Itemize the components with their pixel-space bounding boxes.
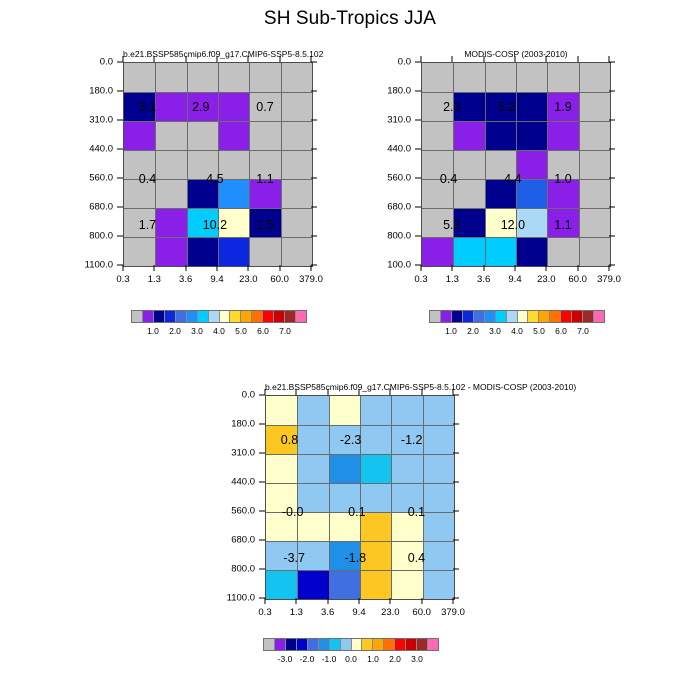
colorbar-segment <box>187 311 198 322</box>
y-axis-tick-right <box>453 540 459 541</box>
x-axis-label: 9.4 <box>508 274 521 285</box>
panel-diff-plot-area: 0.8-2.3-1.2-0.00.10.1-3.7-1.80.4 <box>265 395 455 600</box>
y-axis-tick <box>415 207 421 208</box>
y-axis-label: 800.0 <box>67 231 113 242</box>
panel-model-plot-area: 3.12.90.70.44.51.11.710.21.5 <box>123 62 313 267</box>
x-axis-tick-top <box>248 56 249 62</box>
x-axis-tick <box>123 265 124 271</box>
colorbar-segment <box>330 639 341 650</box>
panel-obs-plot-area: 2.35.21.90.44.41.05.312.01.1 <box>421 62 611 267</box>
y-axis-tick-right <box>453 598 459 599</box>
y-axis-tick <box>117 149 123 150</box>
y-axis-label: 800.0 <box>365 231 411 242</box>
x-axis-label: 3.6 <box>477 274 490 285</box>
y-axis-tick-right <box>453 424 459 425</box>
colorbar-tick-label: 7.0 <box>577 326 589 336</box>
x-axis-tick-top <box>609 56 610 62</box>
x-axis-label: 0.3 <box>258 607 271 618</box>
gridline-vertical <box>453 63 454 266</box>
heatmap-cell <box>329 396 360 425</box>
x-axis-tick <box>359 598 360 604</box>
x-axis-tick-top <box>483 56 484 62</box>
cell-value-label: -1.2 <box>401 433 423 447</box>
gridline-horizontal <box>124 121 312 122</box>
x-axis-tick-top <box>123 56 124 62</box>
colorbar-segment <box>209 311 220 322</box>
cell-value-label: 1.5 <box>256 218 273 232</box>
heatmap-cell <box>423 454 454 483</box>
cell-value-label: 4.4 <box>504 172 521 186</box>
heatmap-cell <box>155 237 186 266</box>
colorbar-segment <box>275 639 286 650</box>
colorbar-tick-label: 1.0 <box>147 326 159 336</box>
heatmap-cell <box>391 396 422 425</box>
gridline-horizontal <box>266 483 454 484</box>
gridline-horizontal <box>266 454 454 455</box>
gridline-horizontal <box>266 541 454 542</box>
heatmap-cell <box>329 454 360 483</box>
gridline-vertical <box>547 63 548 266</box>
x-axis-label: 379.0 <box>299 274 323 285</box>
colorbar-tick-label: 3.0 <box>191 326 203 336</box>
figure-root: SH Sub-Tropics JJA b.e21.BSSP585cmip6.f0… <box>0 0 700 700</box>
colorbar-segment <box>285 311 296 322</box>
y-axis-tick-right <box>609 91 615 92</box>
cell-value-label: 0.4 <box>440 172 457 186</box>
cell-value-label: 1.7 <box>139 218 156 232</box>
y-axis-tick <box>259 453 265 454</box>
y-axis-tick <box>259 424 265 425</box>
colorbar-tick-label: 3.0 <box>411 654 423 664</box>
gridline-horizontal <box>422 208 610 209</box>
y-axis-tick-right <box>311 62 317 63</box>
gridline-vertical <box>155 63 156 266</box>
y-axis-tick-right <box>609 265 615 266</box>
panel-model-title: b.e21.BSSP585cmip6.f09_g17.CMIP6-SSP5-8.… <box>123 49 313 59</box>
heatmap-cell <box>360 570 391 599</box>
y-axis-tick <box>259 482 265 483</box>
y-axis-tick-right <box>609 207 615 208</box>
colorbar-segment <box>417 639 428 650</box>
gridline-horizontal <box>124 92 312 93</box>
x-axis-tick-top <box>185 56 186 62</box>
heatmap-cell <box>187 237 218 266</box>
gridline-vertical <box>281 63 282 266</box>
colorbar-segment <box>452 311 463 322</box>
cell-value-label: 4.5 <box>206 172 223 186</box>
gridline-vertical <box>516 63 517 266</box>
cell-value-label: 1.9 <box>554 100 571 114</box>
y-axis-label: 680.0 <box>67 202 113 213</box>
y-axis-tick-right <box>311 149 317 150</box>
colorbar-segment <box>507 311 518 322</box>
heatmap-cell <box>423 570 454 599</box>
heatmap-cell <box>453 121 484 150</box>
heatmap-cell <box>155 208 186 237</box>
gridline-horizontal <box>266 425 454 426</box>
colorbar-tick-label: -1.0 <box>322 654 337 664</box>
heatmap-cell <box>218 237 249 266</box>
colorbar-segment <box>463 311 474 322</box>
panel-diff-title: b.e21.BSSP585cmip6.f09_g17.CMIP6-SSP5-8.… <box>265 382 455 392</box>
colorbar-strip <box>131 310 307 323</box>
colorbar-tick-label: 4.0 <box>213 326 225 336</box>
heatmap-cell <box>297 425 328 454</box>
x-axis-tick <box>185 265 186 271</box>
panel-model: b.e21.BSSP585cmip6.f09_g17.CMIP6-SSP5-8.… <box>123 62 313 267</box>
figure-title: SH Sub-Tropics JJA <box>0 8 700 30</box>
colorbar-tick-label: 1.0 <box>445 326 457 336</box>
y-axis-label: 100.0 <box>365 260 411 271</box>
colorbar-segment <box>241 311 252 322</box>
cell-value-label: 0.7 <box>256 100 273 114</box>
y-axis-tick <box>117 91 123 92</box>
x-axis-tick <box>279 265 280 271</box>
colorbar-segment <box>395 639 406 650</box>
colorbar-segment <box>154 311 165 322</box>
y-axis-tick <box>259 511 265 512</box>
y-axis-label: 310.0 <box>209 448 255 459</box>
colorbar-segment <box>572 311 583 322</box>
x-axis-tick-top <box>452 56 453 62</box>
x-axis-label: 0.3 <box>414 274 427 285</box>
heatmap-cell <box>360 454 391 483</box>
cell-value-label: -1.8 <box>345 551 367 565</box>
gridline-horizontal <box>422 150 610 151</box>
gridline-vertical <box>391 396 392 599</box>
y-axis-label: 680.0 <box>365 202 411 213</box>
y-axis-tick-right <box>609 120 615 121</box>
x-axis-tick-top <box>421 56 422 62</box>
y-axis-tick-right <box>311 207 317 208</box>
y-axis-tick <box>117 207 123 208</box>
cell-value-label: 0.4 <box>408 551 425 565</box>
cell-value-label: 10.2 <box>203 218 227 232</box>
y-axis-label: 440.0 <box>67 144 113 155</box>
cell-value-label: -0.0 <box>282 505 304 519</box>
colorbar-segment <box>296 311 306 322</box>
x-axis-label: 3.6 <box>179 274 192 285</box>
colorbar-tick-label: -2.0 <box>300 654 315 664</box>
x-axis-label: 60.0 <box>412 607 431 618</box>
cell-value-label: 3.1 <box>139 100 156 114</box>
heatmap-cell <box>423 483 454 512</box>
cell-value-label: -3.7 <box>283 551 305 565</box>
colorbar-segment <box>143 311 154 322</box>
colorbar-segment <box>583 311 594 322</box>
gridline-horizontal <box>422 121 610 122</box>
x-axis-tick <box>296 598 297 604</box>
gridline-vertical <box>329 396 330 599</box>
x-axis-tick-top <box>515 56 516 62</box>
y-axis-label: 310.0 <box>67 115 113 126</box>
y-axis-tick <box>259 540 265 541</box>
colorbar-tick-label: 5.0 <box>235 326 247 336</box>
x-axis-tick-top <box>154 56 155 62</box>
y-axis-tick-right <box>453 395 459 396</box>
colorbar-segment <box>274 311 285 322</box>
gridline-vertical <box>579 63 580 266</box>
colorbar-tick-label: 4.0 <box>511 326 523 336</box>
heatmap-cell <box>266 570 297 599</box>
colorbar-tick-label: 3.0 <box>489 326 501 336</box>
colorbar-segment <box>485 311 496 322</box>
cell-value-label: 0.8 <box>281 433 298 447</box>
y-axis-tick <box>117 236 123 237</box>
heatmap-cell <box>155 92 186 121</box>
heatmap-cell <box>516 121 547 150</box>
x-axis-label: 1.3 <box>290 607 303 618</box>
gridline-vertical <box>249 63 250 266</box>
colorbar-tick-label: 6.0 <box>555 326 567 336</box>
y-axis-label: 0.0 <box>209 390 255 401</box>
heatmap-cell <box>453 237 484 266</box>
colorbar-tick-label: 2.0 <box>467 326 479 336</box>
y-axis-label: 180.0 <box>67 86 113 97</box>
y-axis-tick <box>415 120 421 121</box>
x-axis-tick-top <box>577 56 578 62</box>
panel-diff: b.e21.BSSP585cmip6.f09_g17.CMIP6-SSP5-8.… <box>265 395 455 600</box>
panel-obs: MODIS-COSP (2003-2010) 2.35.21.90.44.41.… <box>421 62 611 267</box>
x-axis-tick-top <box>546 56 547 62</box>
colorbar-tick-label: 0.0 <box>345 654 357 664</box>
y-axis-label: 440.0 <box>365 144 411 155</box>
y-axis-tick-right <box>453 453 459 454</box>
y-axis-label: 560.0 <box>365 173 411 184</box>
y-axis-tick <box>415 91 421 92</box>
cell-value-label: 5.3 <box>443 218 460 232</box>
x-axis-tick-top <box>453 389 454 395</box>
y-axis-label: 560.0 <box>209 506 255 517</box>
colorbar-segment <box>561 311 572 322</box>
cell-value-label: 5.2 <box>498 100 515 114</box>
colorbar-segment <box>441 311 452 322</box>
y-axis-label: 310.0 <box>365 115 411 126</box>
y-axis-tick <box>117 120 123 121</box>
x-axis-label: 9.4 <box>352 607 365 618</box>
x-axis-tick <box>217 265 218 271</box>
heatmap-cell <box>218 92 249 121</box>
colorbar-segment <box>319 639 330 650</box>
heatmap-cell <box>485 237 516 266</box>
cell-value-label: 12.0 <box>501 218 525 232</box>
cell-value-label: 2.9 <box>192 100 209 114</box>
y-axis-label: 180.0 <box>365 86 411 97</box>
colorbar-segment <box>362 639 373 650</box>
colorbar-segment <box>518 311 529 322</box>
heatmap-cell <box>329 570 360 599</box>
cell-value-label: -2.3 <box>340 433 362 447</box>
colorbar-segment <box>176 311 187 322</box>
x-axis-label: 1.3 <box>446 274 459 285</box>
colorbar-segment <box>230 311 241 322</box>
gridline-vertical <box>187 63 188 266</box>
colorbar-segment <box>528 311 539 322</box>
y-axis-label: 440.0 <box>209 477 255 488</box>
gridline-vertical <box>218 63 219 266</box>
x-axis-tick-top <box>296 389 297 395</box>
x-axis-tick <box>546 265 547 271</box>
colorbar-strip <box>429 310 605 323</box>
x-axis-tick-top <box>359 389 360 395</box>
colorbar-segment <box>264 639 275 650</box>
x-axis-tick <box>390 598 391 604</box>
colorbar-segment <box>384 639 395 650</box>
colorbar-segment <box>496 311 507 322</box>
y-axis-tick-right <box>311 120 317 121</box>
gridline-vertical <box>360 396 361 599</box>
colorbar-segment <box>352 639 363 650</box>
heatmap-cell <box>423 541 454 570</box>
gridline-horizontal <box>422 92 610 93</box>
x-axis-label: 60.0 <box>270 274 289 285</box>
y-axis-tick <box>117 178 123 179</box>
heatmap-cell <box>423 396 454 425</box>
colorbar-tick-label: 1.0 <box>367 654 379 664</box>
heatmap-cell <box>485 121 516 150</box>
heatmap-cell <box>360 425 391 454</box>
x-axis-tick-top <box>279 56 280 62</box>
x-axis-tick <box>577 265 578 271</box>
y-axis-label: 1100.0 <box>209 593 255 604</box>
heatmap-cell <box>218 121 249 150</box>
colorbar-segment <box>132 311 143 322</box>
y-axis-label: 180.0 <box>209 419 255 430</box>
heatmap-cell <box>124 121 155 150</box>
heatmap-cell <box>266 396 297 425</box>
y-axis-label: 800.0 <box>209 564 255 575</box>
x-axis-tick <box>421 265 422 271</box>
panel-obs-title: MODIS-COSP (2003-2010) <box>421 49 611 59</box>
y-axis-tick <box>415 149 421 150</box>
colorbar-segment <box>474 311 485 322</box>
y-axis-tick <box>259 569 265 570</box>
colorbar-segment <box>198 311 209 322</box>
colorbar-obs: 1.02.03.04.05.06.07.0 <box>429 310 605 340</box>
x-axis-label: 379.0 <box>597 274 621 285</box>
gridline-horizontal <box>124 237 312 238</box>
colorbar-tick-label: 2.0 <box>169 326 181 336</box>
x-axis-tick <box>515 265 516 271</box>
colorbar-model: 1.02.03.04.05.06.07.0 <box>131 310 307 340</box>
x-axis-tick <box>265 598 266 604</box>
cell-value-label: 1.0 <box>554 172 571 186</box>
colorbar-segment <box>539 311 550 322</box>
y-axis-tick-right <box>609 178 615 179</box>
heatmap-cell <box>516 237 547 266</box>
gridline-horizontal <box>422 237 610 238</box>
heatmap-cell <box>422 237 453 266</box>
colorbar-segment <box>430 311 441 322</box>
heatmap-cell <box>423 425 454 454</box>
x-axis-label: 23.0 <box>537 274 556 285</box>
y-axis-tick-right <box>311 91 317 92</box>
colorbar-tick-label: 7.0 <box>279 326 291 336</box>
y-axis-label: 0.0 <box>365 57 411 68</box>
colorbar-tick-label: 2.0 <box>389 654 401 664</box>
x-axis-tick-top <box>327 389 328 395</box>
heatmap-cell <box>391 570 422 599</box>
colorbar-segment <box>297 639 308 650</box>
x-axis-label: 0.3 <box>116 274 129 285</box>
colorbar-segment <box>252 311 263 322</box>
x-axis-tick-top <box>217 56 218 62</box>
y-axis-label: 1100.0 <box>67 260 113 271</box>
y-axis-tick <box>415 236 421 237</box>
y-axis-tick <box>415 178 421 179</box>
cell-value-label: 1.1 <box>554 218 571 232</box>
colorbar-tick-label: -3.0 <box>278 654 293 664</box>
x-axis-tick-top <box>421 389 422 395</box>
colorbar-segment <box>220 311 231 322</box>
y-axis-tick-right <box>609 236 615 237</box>
x-axis-tick <box>452 265 453 271</box>
y-axis-tick-right <box>609 62 615 63</box>
y-axis-tick-right <box>311 178 317 179</box>
colorbar-strip <box>263 638 439 651</box>
gridline-horizontal <box>124 208 312 209</box>
heatmap-cell <box>266 454 297 483</box>
colorbar-segment <box>286 639 297 650</box>
colorbar-diff: -3.0-2.0-1.00.01.02.03.0 <box>263 638 439 668</box>
x-axis-label: 3.6 <box>321 607 334 618</box>
gridline-vertical <box>423 396 424 599</box>
x-axis-tick <box>327 598 328 604</box>
y-axis-label: 0.0 <box>67 57 113 68</box>
colorbar-segment <box>594 311 604 322</box>
heatmap-cell <box>297 454 328 483</box>
cell-value-label: 1.1 <box>256 172 273 186</box>
colorbar-segment <box>263 311 274 322</box>
colorbar-segment <box>550 311 561 322</box>
x-axis-tick <box>453 598 454 604</box>
cell-value-label: 0.1 <box>348 505 365 519</box>
x-axis-label: 23.0 <box>239 274 258 285</box>
cell-value-label: 0.4 <box>139 172 156 186</box>
heatmap-cell <box>360 396 391 425</box>
gridline-vertical <box>485 63 486 266</box>
cell-value-label: 0.1 <box>408 505 425 519</box>
y-axis-tick-right <box>453 482 459 483</box>
x-axis-tick <box>483 265 484 271</box>
y-axis-tick-right <box>453 511 459 512</box>
heatmap-cell <box>297 570 328 599</box>
gridline-horizontal <box>124 150 312 151</box>
x-axis-label: 1.3 <box>148 274 161 285</box>
x-axis-tick <box>248 265 249 271</box>
colorbar-segment <box>406 639 417 650</box>
y-axis-label: 680.0 <box>209 535 255 546</box>
colorbar-segment <box>428 639 438 650</box>
colorbar-segment <box>341 639 352 650</box>
x-axis-label: 9.4 <box>210 274 223 285</box>
x-axis-tick-top <box>390 389 391 395</box>
cell-value-label: 2.3 <box>443 100 460 114</box>
heatmap-cell <box>547 121 578 150</box>
x-axis-label: 23.0 <box>381 607 400 618</box>
x-axis-tick-top <box>311 56 312 62</box>
y-axis-tick-right <box>609 149 615 150</box>
x-axis-tick <box>609 265 610 271</box>
y-axis-tick-right <box>311 236 317 237</box>
heatmap-cell <box>391 454 422 483</box>
heatmap-cell <box>297 396 328 425</box>
heatmap-cell <box>423 512 454 541</box>
x-axis-tick <box>154 265 155 271</box>
colorbar-tick-label: 6.0 <box>257 326 269 336</box>
x-axis-label: 379.0 <box>441 607 465 618</box>
y-axis-tick-right <box>311 265 317 266</box>
